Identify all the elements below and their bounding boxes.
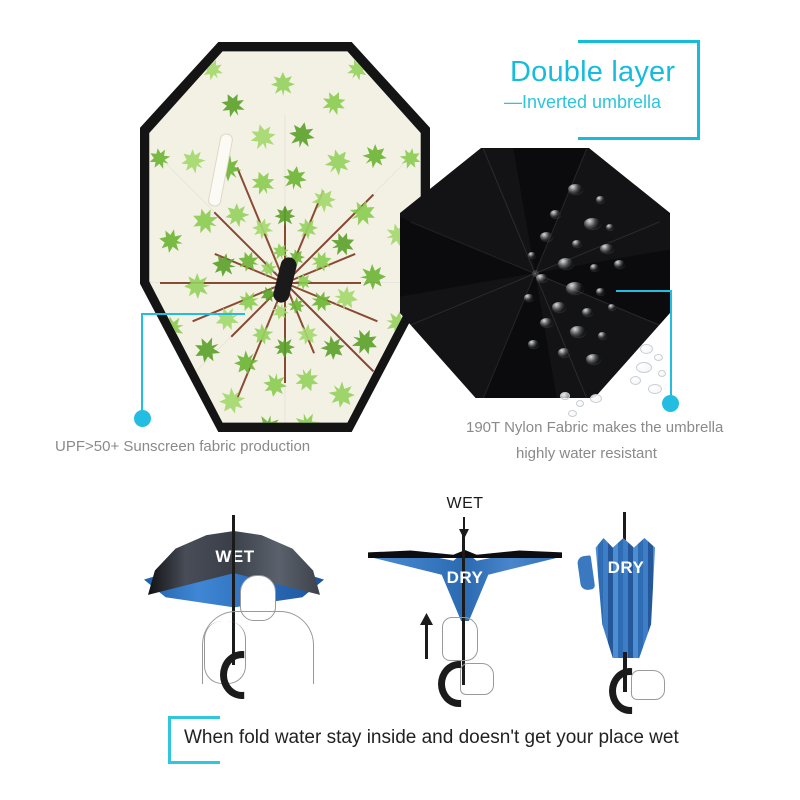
- maple-leaf: [291, 410, 323, 423]
- water-droplet-outside: [590, 394, 602, 403]
- maple-leaf: [217, 89, 249, 121]
- maple-leaf: [345, 195, 380, 230]
- maple-leaf: [248, 214, 277, 243]
- maple-leaf: [287, 120, 318, 151]
- water-droplet-outside: [576, 400, 584, 407]
- maple-leaf: [184, 273, 211, 300]
- callout-text-nylon-line1: 190T Nylon Fabric makes the umbrella: [466, 419, 723, 436]
- water-droplet-outside: [636, 362, 652, 373]
- step1-label: WET: [140, 547, 330, 567]
- infographic-page: Double layer —Inverted umbrella UPF>50+ …: [0, 0, 800, 800]
- maple-leaf: [293, 214, 322, 243]
- callout-line-upf-horizontal: [141, 313, 245, 315]
- page-subtitle: —Inverted umbrella: [504, 92, 661, 113]
- water-droplet-outside: [640, 344, 653, 354]
- title-block: Double layer —Inverted umbrella: [500, 40, 700, 140]
- step3-top-tip: [623, 512, 626, 540]
- callout-text-nylon-line2: highly water resistant: [516, 445, 657, 462]
- step2-top-label: WET: [370, 495, 560, 513]
- step2-hand-upper: [442, 617, 478, 661]
- water-droplet-outside: [568, 410, 577, 417]
- caption-text: When fold water stay inside and doesn't …: [184, 727, 679, 749]
- maple-leaf: [293, 320, 322, 349]
- caption-block: When fold water stay inside and doesn't …: [168, 716, 688, 764]
- fabric-fold-line: [149, 282, 285, 283]
- callout-dot-upf: [134, 410, 151, 427]
- maple-leaf: [214, 383, 250, 419]
- maple-leaf: [176, 144, 210, 178]
- maple-leaf: [359, 264, 386, 291]
- inverted-umbrella-leaf-print: [140, 42, 430, 432]
- maple-leaf: [190, 333, 225, 368]
- maple-leaf: [220, 198, 254, 232]
- page-title: Double layer: [510, 56, 675, 89]
- callout-text-upf: UPF>50+ Sunscreen fabric production: [55, 438, 310, 455]
- maple-leaf: [210, 251, 237, 278]
- maple-leaf: [253, 412, 284, 422]
- step2-label: DRY: [370, 568, 560, 588]
- water-droplet-outside: [630, 376, 641, 385]
- maple-leaf: [348, 325, 382, 359]
- maple-leaf: [358, 139, 392, 173]
- water-droplet-outside: [658, 370, 666, 377]
- step3-label: DRY: [583, 558, 669, 578]
- step3-folded-canopy: [593, 538, 659, 658]
- maple-leaf: [247, 168, 278, 199]
- step-inverting-umbrella: WET DRY: [370, 495, 560, 705]
- maple-leaf: [292, 364, 323, 395]
- step-folded-umbrella: DRY: [565, 512, 725, 702]
- maple-leaf: [188, 204, 222, 238]
- maple-leaf: [319, 144, 355, 180]
- callout-dot-nylon: [662, 395, 679, 412]
- callout-line-upf-vertical: [141, 313, 143, 417]
- step-open-umbrella: WET: [140, 505, 330, 700]
- maple-leaf: [157, 226, 185, 254]
- maple-leaf: [247, 122, 279, 154]
- step2-canopy-rim: [368, 550, 562, 558]
- maple-leaf: [271, 72, 295, 96]
- maple-leaf: [318, 87, 350, 119]
- water-droplet-outside: [560, 392, 570, 400]
- maple-leaf: [323, 377, 360, 414]
- title-bracket-decoration: [578, 40, 700, 140]
- fabric-fold-line: [284, 282, 285, 423]
- water-droplet-layer: [400, 148, 700, 428]
- water-droplet-outside: [654, 354, 663, 361]
- maple-leaf: [149, 390, 174, 419]
- step2-hand-lower: [460, 663, 494, 695]
- water-droplet-outside: [648, 384, 662, 394]
- step2-push-arrowhead: [420, 613, 433, 625]
- maple-leaf: [316, 331, 350, 365]
- step3-hand: [631, 670, 665, 700]
- callout-line-nylon-horizontal: [616, 290, 672, 292]
- maple-leaf: [248, 320, 277, 349]
- callout-line-nylon-vertical: [670, 290, 672, 400]
- step2-push-arrow: [425, 621, 428, 659]
